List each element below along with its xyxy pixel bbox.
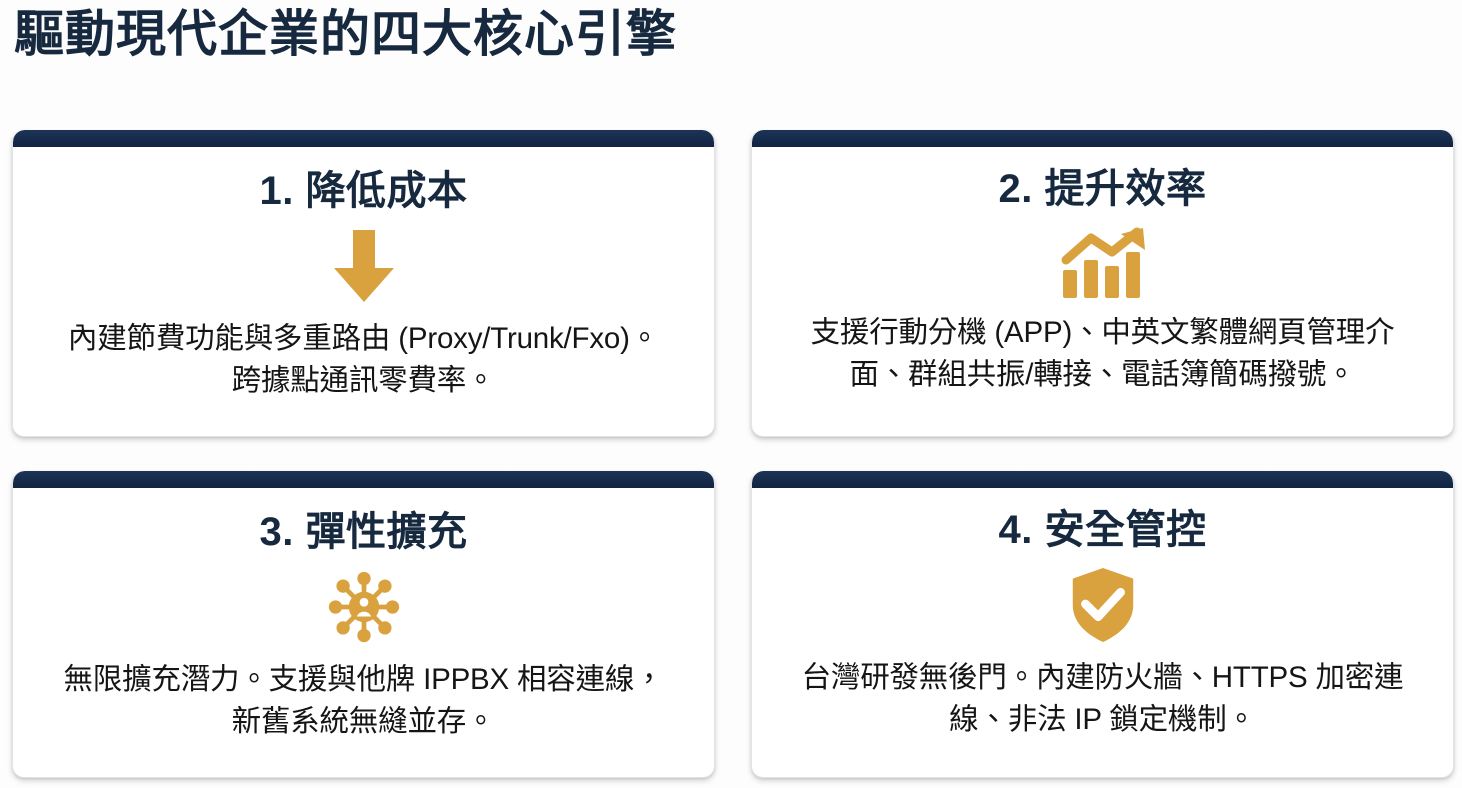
feature-card-grid: 1. 降低成本 內建節費功能與多重路由 (Proxy/Trunk/Fxo)。跨據… (12, 130, 1454, 778)
card-title: 4. 安全管控 (999, 507, 1207, 553)
growth-bar-chart-icon (1059, 226, 1147, 302)
feature-card-cost-reduction[interactable]: 1. 降低成本 內建節費功能與多重路由 (Proxy/Trunk/Fxo)。跨據… (12, 130, 715, 437)
card-title: 3. 彈性擴充 (260, 509, 468, 555)
network-hub-icon (324, 569, 404, 645)
card-accent-bar (752, 471, 1453, 488)
page-title: 驅動現代企業的四大核心引擎 (14, 4, 677, 64)
card-description: 支援行動分機 (APP)、中英文繁體網頁管理介面、群組共振/轉接、電話簿簡碼撥號… (787, 312, 1419, 396)
down-arrow-icon (328, 228, 400, 304)
card-accent-bar (13, 130, 714, 147)
feature-card-security[interactable]: 4. 安全管控 台灣研發無後門。內建防火牆、HTTPS 加密連線、非法 IP 鎖… (751, 471, 1454, 778)
feature-card-efficiency[interactable]: 2. 提升效率 支援行動分機 (APP)、中英文繁體網頁管理介面、群組共振/轉接… (751, 130, 1454, 437)
card-accent-bar (752, 130, 1453, 147)
card-description: 無限擴充潛力。支援與他牌 IPPBX 相容連線，新舊系統無縫並存。 (59, 659, 669, 743)
card-title: 2. 提升效率 (999, 166, 1207, 212)
card-title: 1. 降低成本 (260, 168, 468, 214)
feature-card-scalability[interactable]: 3. 彈性擴充 (12, 471, 715, 778)
card-description: 台灣研發無後門。內建防火牆、HTTPS 加密連線、非法 IP 鎖定機制。 (783, 657, 1423, 741)
card-accent-bar (13, 471, 714, 488)
card-description: 內建節費功能與多重路由 (Proxy/Trunk/Fxo)。跨據點通訊零費率。 (64, 318, 664, 402)
shield-check-icon (1066, 567, 1140, 643)
